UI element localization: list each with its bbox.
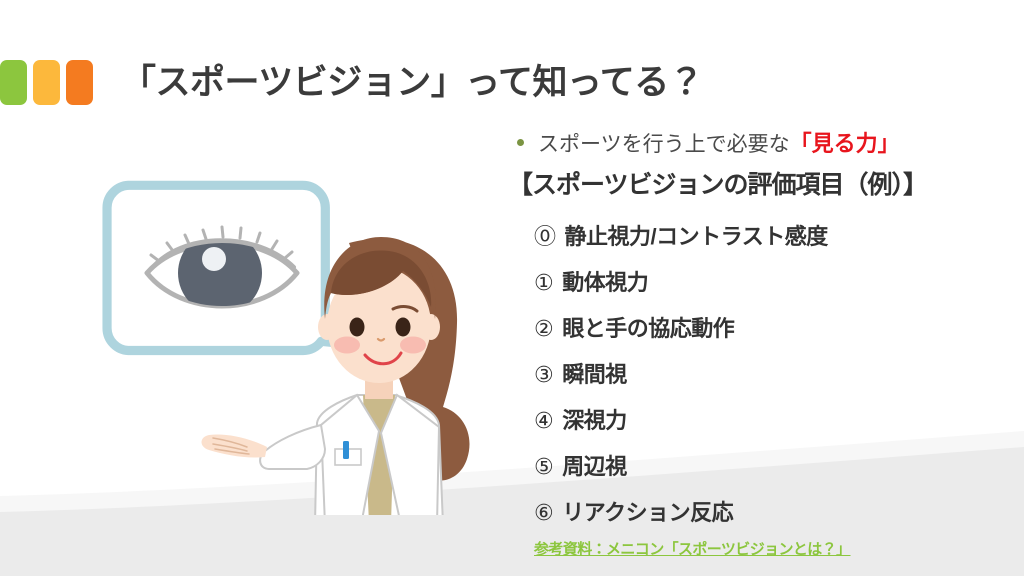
illustration-group xyxy=(95,155,525,515)
bullet-point-icon xyxy=(517,139,524,146)
list-item: ⑤ 周辺視 xyxy=(508,444,1008,490)
list-item: ⑥ リアクション反応 xyxy=(508,490,1008,536)
list-item: ② 眼と手の協応動作 xyxy=(508,306,1008,352)
accent-square-orange xyxy=(66,60,93,105)
list-item-number: ⑥ xyxy=(534,490,553,536)
lead-emphasis-text: 「見る力」 xyxy=(790,132,900,156)
list-item: ⓪ 静止視力/コントラスト感度 xyxy=(508,214,1008,260)
list-item-label: 深視力 xyxy=(562,398,627,444)
list-item-label: 静止視力/コントラスト感度 xyxy=(565,214,828,260)
lead-line: スポーツを行う上で必要な 「見る力」 xyxy=(508,132,1008,156)
list-item-number: ③ xyxy=(534,352,553,398)
list-item-label: 眼と手の協応動作 xyxy=(562,306,734,352)
list-item-number: ② xyxy=(534,306,553,352)
list-item-number: ⓪ xyxy=(534,214,556,260)
evaluation-item-list: ⓪ 静止視力/コントラスト感度 ① 動体視力 ② 眼と手の協応動作 ③ 瞬間視 … xyxy=(508,214,1008,536)
list-item-label: 瞬間視 xyxy=(562,352,627,398)
list-item-label: 周辺視 xyxy=(562,444,627,490)
list-item-number: ① xyxy=(534,260,553,306)
list-item: ④ 深視力 xyxy=(508,398,1008,444)
accent-square-green xyxy=(0,60,27,105)
accent-square-yellow xyxy=(33,60,60,105)
list-item-number: ④ xyxy=(534,398,553,444)
content-column: スポーツを行う上で必要な 「見る力」 【スポーツビジョンの評価項目（例）】 ⓪ … xyxy=(508,132,1008,559)
slide-header: 「スポーツビジョン」って知ってる？ xyxy=(0,56,703,108)
list-item-label: リアクション反応 xyxy=(562,490,733,536)
list-item: ① 動体視力 xyxy=(508,260,1008,306)
list-item: ③ 瞬間視 xyxy=(508,352,1008,398)
list-item-label: 動体視力 xyxy=(562,260,648,306)
slide-canvas: 「スポーツビジョン」って知ってる？ xyxy=(0,0,1024,576)
section-heading: 【スポーツビジョンの評価項目（例）】 xyxy=(508,172,1008,200)
source-credit-link[interactable]: 参考資料：メニコン「スポーツビジョンとは？」 xyxy=(508,538,1008,559)
page-title: 「スポーツビジョン」って知ってる？ xyxy=(121,65,703,100)
list-item-number: ⑤ xyxy=(534,444,553,490)
lead-text: スポーツを行う上で必要な xyxy=(538,133,790,156)
